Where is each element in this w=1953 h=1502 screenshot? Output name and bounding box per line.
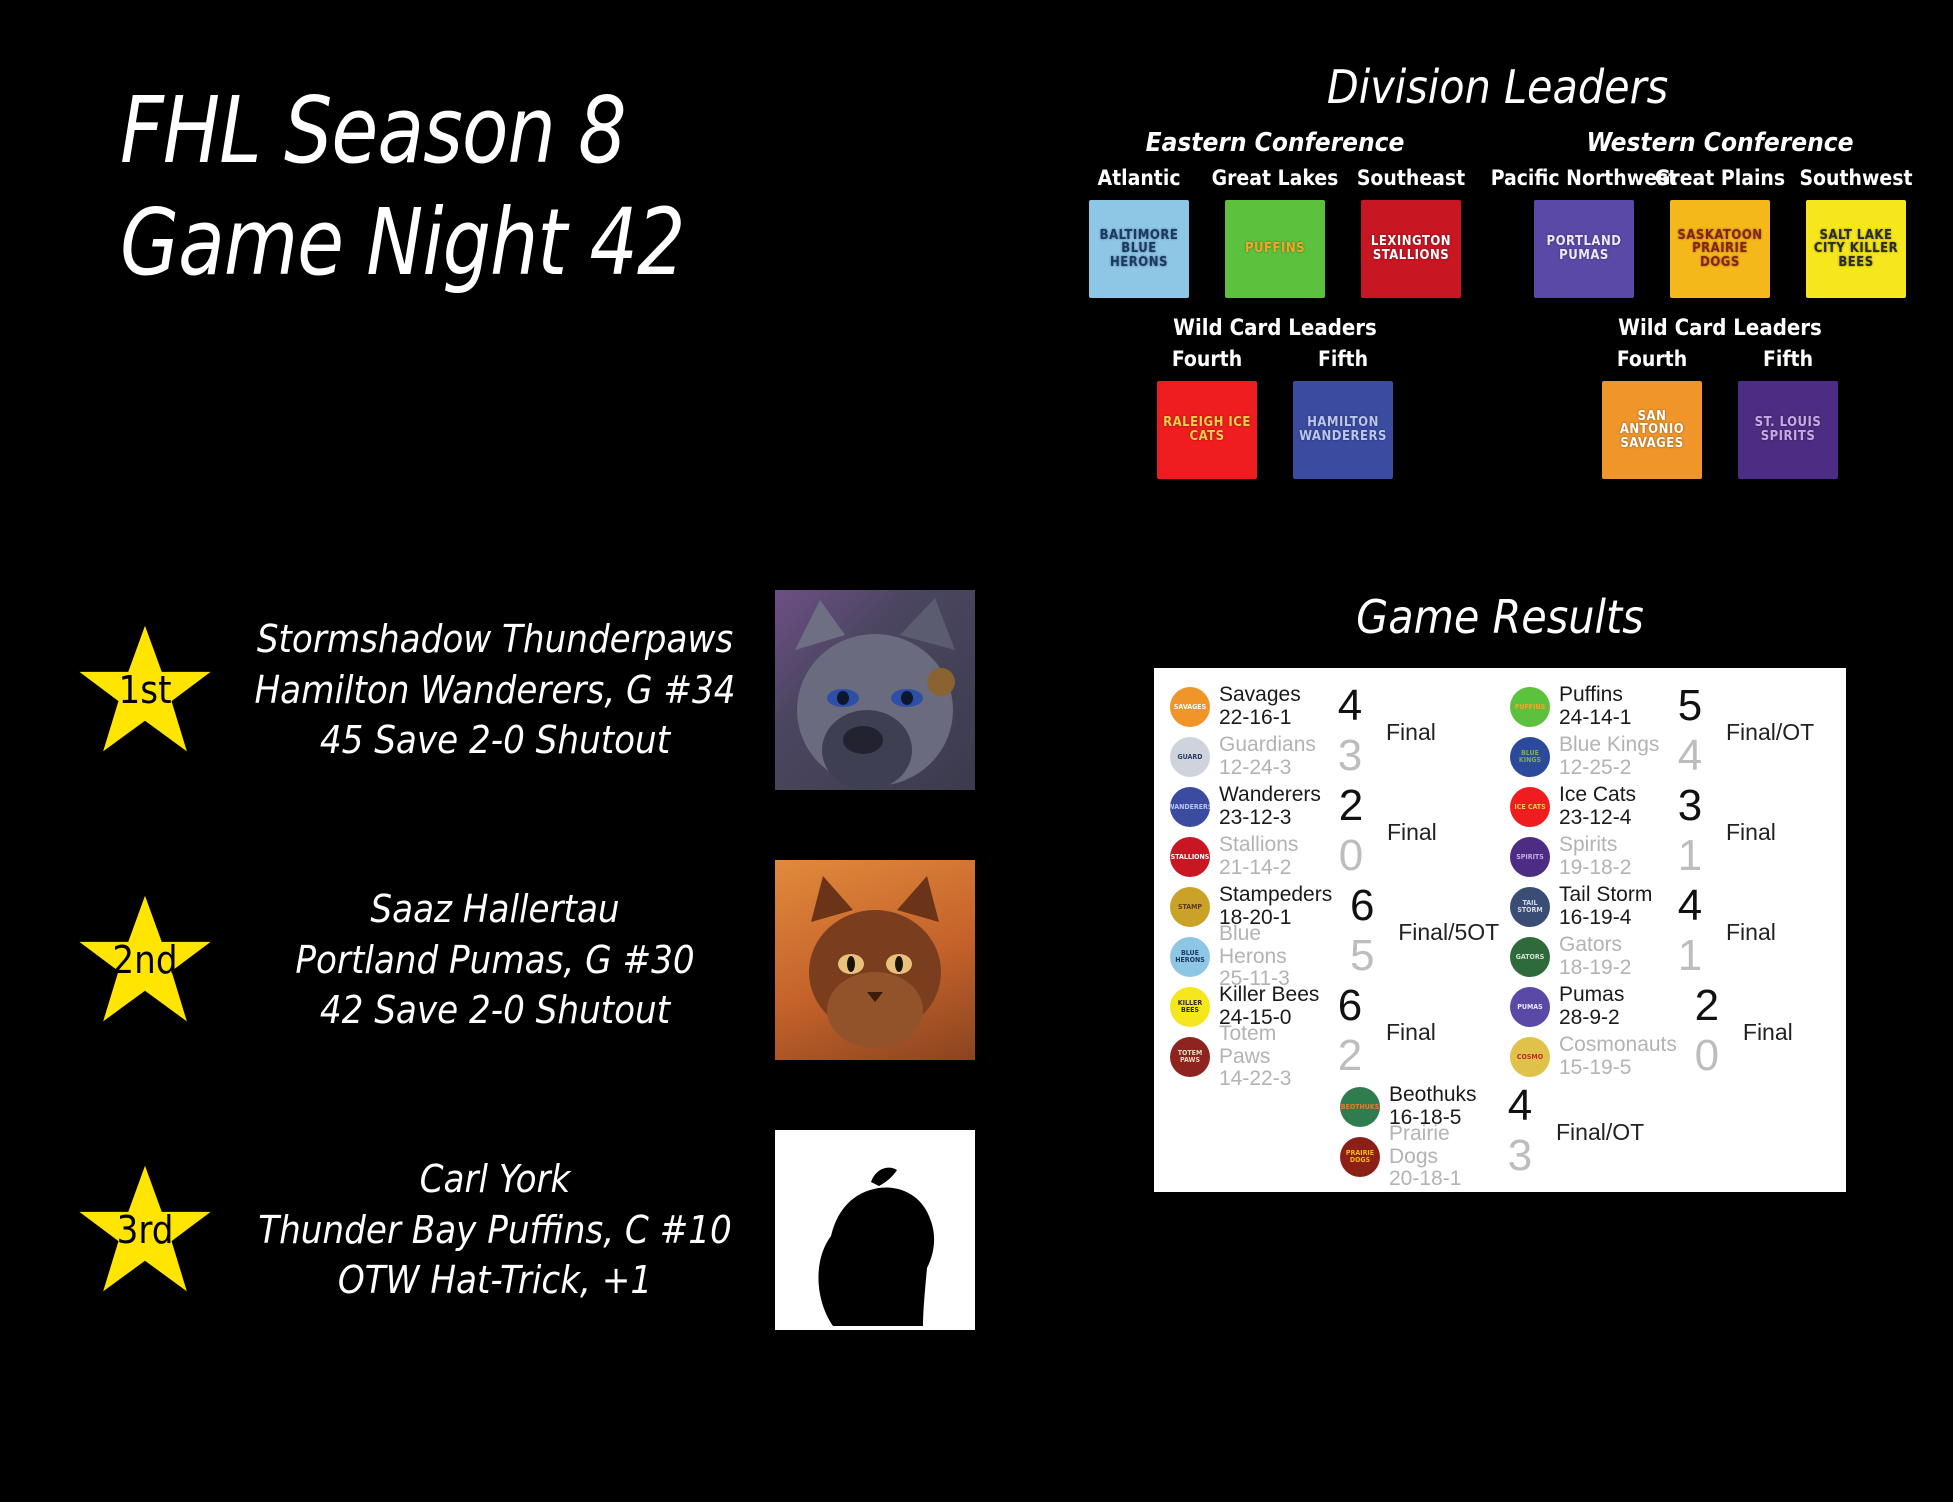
- team-logo-mini-label: SAVAGES: [1170, 687, 1210, 727]
- star-player-name: Stormshadow Thunderpaws: [229, 614, 761, 665]
- division-great-lakes[interactable]: Great Lakes Puffins: [1216, 166, 1334, 298]
- division-pacific-northwest[interactable]: Pacific Northwest Portland Pumas: [1525, 166, 1643, 298]
- team-logo-pumas[interactable]: Portland Pumas: [1534, 200, 1634, 298]
- division-southeast[interactable]: Southeast Lexington Stallions: [1352, 166, 1470, 298]
- page-title: FHL Season 8 Game Night 42: [120, 75, 685, 299]
- team-logo-stallions-icon: STALLIONS: [1168, 835, 1212, 879]
- star-player-name: Carl York: [229, 1154, 761, 1205]
- division-southwest[interactable]: Southwest Salt Lake City Killer Bees: [1797, 166, 1915, 298]
- team-name: Gators: [1559, 934, 1631, 957]
- score-winner: 2: [1321, 782, 1381, 832]
- game-row[interactable]: KILLER BEES Killer Bees 24-15-0 TOTEM PA…: [1160, 982, 1500, 1082]
- team-record: 19-18-2: [1559, 857, 1631, 880]
- star-rank-label: 3rd: [75, 1208, 215, 1252]
- team-name: Tail Storm: [1559, 884, 1652, 907]
- game-results-heading: Game Results: [1120, 590, 1880, 644]
- team-logo-cosmonauts-icon: COSMO: [1508, 1035, 1552, 1079]
- team-logo-label: Hamilton Wanderers: [1293, 414, 1393, 445]
- star-icon: 2nd: [75, 893, 215, 1027]
- game-results-section: Game Results SAVAGES Savages 22-16-1: [1120, 590, 1880, 1192]
- game-status: Final/OT: [1720, 719, 1840, 746]
- team-logo-label: Baltimore Blue Herons: [1089, 227, 1189, 272]
- team-record: 24-14-1: [1559, 707, 1631, 730]
- team-name: Cosmonauts: [1559, 1034, 1677, 1057]
- team-logo-mini-label: PUFFINS: [1510, 687, 1550, 727]
- game-row[interactable]: WANDERERS Wanderers 23-12-3 STALLIONS: [1160, 782, 1500, 882]
- conference-title: Western Conference: [1520, 128, 1920, 158]
- results-row-center: BEOTHUKS Beothuks 16-18-5 PRAIRIE DOGS: [1160, 1082, 1840, 1182]
- score-loser: 0: [1321, 832, 1381, 882]
- team-logo-savages[interactable]: San Antonio Savages: [1602, 381, 1702, 479]
- team-logo-mini-label: BLUE KINGS: [1510, 737, 1550, 777]
- team-logo-puffins-icon: PUFFINS: [1508, 685, 1552, 729]
- team-logo-stampeders-icon: STAMP: [1168, 885, 1212, 929]
- team-logo-blue-kings-icon: BLUE KINGS: [1508, 735, 1552, 779]
- three-stars-section: 1st Stormshadow Thunderpaws Hamilton Wan…: [75, 555, 975, 1365]
- star-team-position: Portland Pumas, G #30: [229, 935, 761, 986]
- division-label: Great Plains: [1655, 166, 1785, 190]
- team-logo-mini-label: PUMAS: [1510, 987, 1550, 1027]
- division-atlantic[interactable]: Atlantic Baltimore Blue Herons: [1080, 166, 1198, 298]
- team-name: Pumas: [1559, 984, 1624, 1007]
- game-status: Final/5OT: [1392, 919, 1512, 946]
- team-logo-mini-label: COSMO: [1510, 1037, 1550, 1077]
- star-team-position: Hamilton Wanderers, G #34: [229, 665, 761, 716]
- team-line-loser: GATORS Gators 18-19-2: [1508, 932, 1660, 982]
- team-record: 15-19-5: [1559, 1057, 1677, 1080]
- team-logo-killer-bees[interactable]: Salt Lake City Killer Bees: [1806, 200, 1906, 298]
- team-logo-mini-label: BLUE HERONS: [1170, 937, 1210, 977]
- wildcard-rank-label: Fourth: [1617, 347, 1687, 371]
- team-logo-puffins[interactable]: Puffins: [1225, 200, 1325, 298]
- team-line-winner: WANDERERS Wanderers 23-12-3: [1168, 782, 1321, 832]
- team-logo-mini-label: TOTEM PAWS: [1170, 1037, 1210, 1077]
- team-logo-totem-paws-icon: TOTEM PAWS: [1168, 1035, 1212, 1079]
- team-logo-mini-label: BEOTHUKS: [1340, 1087, 1380, 1127]
- game-row[interactable]: ICE CATS Ice Cats 23-12-4 SPIRITS: [1500, 782, 1840, 882]
- star-details: Stormshadow Thunderpaws Hamilton Wandere…: [215, 614, 775, 766]
- game-row[interactable]: PUMAS Pumas 28-9-2 COSMO: [1500, 982, 1840, 1082]
- team-name: Ice Cats: [1559, 784, 1636, 807]
- star-portrait-silhouette: [775, 1130, 975, 1330]
- team-record: 18-19-2: [1559, 957, 1631, 980]
- conference-title: Eastern Conference: [1075, 128, 1475, 158]
- score-loser: 2: [1320, 1032, 1380, 1082]
- division-leaders-section: Division Leaders Eastern Conference Atla…: [1075, 60, 1920, 479]
- star-icon: 1st: [75, 623, 215, 757]
- team-record: 12-25-2: [1559, 757, 1659, 780]
- team-logo-label: St. Louis Spirits: [1738, 414, 1838, 445]
- division-label: Great Lakes: [1212, 166, 1339, 190]
- score-winner: 6: [1320, 982, 1380, 1032]
- team-logo-gators-icon: GATORS: [1508, 935, 1552, 979]
- division-label: Southwest: [1799, 166, 1912, 190]
- team-line-winner: TAIL STORM Tail Storm 16-19-4: [1508, 882, 1660, 932]
- team-logo-mini-label: PRAIRIE DOGS: [1340, 1137, 1380, 1177]
- wildcard-title: Wild Card Leaders: [1520, 316, 1920, 341]
- game-results-card: SAVAGES Savages 22-16-1 GUARD: [1154, 668, 1846, 1192]
- team-line-winner: SAVAGES Savages 22-16-1: [1168, 682, 1320, 732]
- poster-root: FHL Season 8 Game Night 42 Division Lead…: [0, 0, 1953, 1502]
- score-winner: 2: [1677, 982, 1737, 1032]
- team-name: Prairie Dogs: [1389, 1123, 1490, 1168]
- team-line-loser: PRAIRIE DOGS Prairie Dogs 20-18-1: [1338, 1132, 1490, 1182]
- team-logo-mini-label: STALLIONS: [1170, 837, 1210, 877]
- wildcard-slot-fourth[interactable]: Fourth Raleigh Ice Cats: [1157, 347, 1257, 479]
- team-logo-pumas-icon: PUMAS: [1508, 985, 1552, 1029]
- score-loser: 1: [1660, 932, 1720, 982]
- team-name: Blue Herons: [1219, 923, 1332, 968]
- team-name: Stampeders: [1219, 884, 1332, 907]
- score-loser: 0: [1677, 1032, 1737, 1082]
- team-name: Guardians: [1219, 734, 1316, 757]
- game-row[interactable]: SAVAGES Savages 22-16-1 GUARD: [1160, 682, 1500, 782]
- team-logo-mini-label: TAIL STORM: [1510, 887, 1550, 927]
- results-column-right: PUFFINS Puffins 24-14-1 BLUE KINGS: [1500, 682, 1840, 1082]
- team-logo-mini-label: STAMP: [1170, 887, 1210, 927]
- division-great-plains[interactable]: Great Plains Saskatoon Prairie Dogs: [1661, 166, 1779, 298]
- team-logo-ice-cats-icon: ICE CATS: [1508, 785, 1552, 829]
- team-record: 21-14-2: [1219, 857, 1298, 880]
- team-record: 28-9-2: [1559, 1007, 1624, 1030]
- division-label: Atlantic: [1097, 166, 1180, 190]
- star-rank-label: 1st: [75, 668, 215, 712]
- score-winner: 4: [1660, 882, 1720, 932]
- wildcard-western: Wild Card Leaders Fourth San Antonio Sav…: [1520, 316, 1920, 479]
- team-record: 23-12-4: [1559, 807, 1636, 830]
- team-logo-wanderers-icon: WANDERERS: [1168, 785, 1212, 829]
- wildcard-slot-fifth[interactable]: Fifth Hamilton Wanderers: [1293, 347, 1393, 479]
- team-logo-mini-label: ICE CATS: [1510, 787, 1550, 827]
- wildcard-slot-fourth[interactable]: Fourth San Antonio Savages: [1602, 347, 1702, 479]
- division-label: Pacific Northwest: [1491, 166, 1678, 190]
- team-line-loser: TOTEM PAWS Totem Paws 14-22-3: [1168, 1032, 1320, 1082]
- star-entry-third: 3rd Carl York Thunder Bay Puffins, C #10…: [75, 1095, 975, 1365]
- score-loser: 5: [1332, 932, 1392, 982]
- star-entry-second: 2nd Saaz Hallertau Portland Pumas, G #30…: [75, 825, 975, 1095]
- team-logo-stallions[interactable]: Lexington Stallions: [1361, 200, 1461, 298]
- team-logo-label: San Antonio Savages: [1602, 408, 1702, 453]
- team-logo-label: Puffins: [1243, 240, 1307, 258]
- results-column-left: SAVAGES Savages 22-16-1 GUARD: [1160, 682, 1500, 1082]
- team-record: 16-19-4: [1559, 907, 1652, 930]
- team-name: Stallions: [1219, 834, 1298, 857]
- team-name: Puffins: [1559, 684, 1631, 707]
- team-line-loser: COSMO Cosmonauts 15-19-5: [1508, 1032, 1677, 1082]
- division-leaders-heading: Division Leaders: [1075, 60, 1920, 114]
- game-status: Final: [1737, 1019, 1857, 1046]
- team-logo-ice-cats[interactable]: Raleigh Ice Cats: [1157, 381, 1257, 479]
- star-team-position: Thunder Bay Puffins, C #10: [229, 1205, 761, 1256]
- game-status: Final: [1380, 1019, 1500, 1046]
- team-line-winner: PUFFINS Puffins 24-14-1: [1508, 682, 1660, 732]
- team-record: 14-22-3: [1219, 1068, 1320, 1091]
- team-line-winner: ICE CATS Ice Cats 23-12-4: [1508, 782, 1660, 832]
- division-label: Southeast: [1357, 166, 1465, 190]
- team-line-loser: BLUE KINGS Blue Kings 12-25-2: [1508, 732, 1660, 782]
- team-record: 22-16-1: [1219, 707, 1301, 730]
- title-line-1: FHL Season 8: [120, 75, 685, 187]
- team-logo-prairie-dogs[interactable]: Saskatoon Prairie Dogs: [1670, 200, 1770, 298]
- team-logo-mini-label: GUARD: [1170, 737, 1210, 777]
- score-winner: 5: [1660, 682, 1720, 732]
- team-logo-killer-bees-icon: KILLER BEES: [1168, 985, 1212, 1029]
- wildcard-eastern: Wild Card Leaders Fourth Raleigh Ice Cat…: [1075, 316, 1475, 479]
- game-status: Final: [1720, 919, 1840, 946]
- star-details: Carl York Thunder Bay Puffins, C #10 OTW…: [215, 1154, 775, 1306]
- team-name: Wanderers: [1219, 784, 1321, 807]
- game-status: Final: [1380, 719, 1500, 746]
- team-logo-spirits[interactable]: St. Louis Spirits: [1738, 381, 1838, 479]
- team-logo-label: Raleigh Ice Cats: [1157, 414, 1257, 445]
- team-name: Blue Kings: [1559, 734, 1659, 757]
- team-name: Spirits: [1559, 834, 1631, 857]
- team-logo-label: Salt Lake City Killer Bees: [1806, 227, 1906, 272]
- score-winner: 4: [1490, 1082, 1550, 1132]
- team-line-loser: STALLIONS Stallions 21-14-2: [1168, 832, 1321, 882]
- team-record: 12-24-3: [1219, 757, 1316, 780]
- team-logo-beothuks-icon: BEOTHUKS: [1338, 1085, 1382, 1129]
- star-stat-line: 45 Save 2-0 Shutout: [229, 715, 761, 766]
- team-logo-tail-storm-icon: TAIL STORM: [1508, 885, 1552, 929]
- star-entry-first: 1st Stormshadow Thunderpaws Hamilton Wan…: [75, 555, 975, 825]
- game-status: Final: [1720, 819, 1840, 846]
- game-row[interactable]: TAIL STORM Tail Storm 16-19-4 GATORS: [1500, 882, 1840, 982]
- star-icon: 3rd: [75, 1163, 215, 1297]
- team-logo-mini-label: SPIRITS: [1510, 837, 1550, 877]
- team-line-loser: GUARD Guardians 12-24-3: [1168, 732, 1320, 782]
- team-logo-wanderers[interactable]: Hamilton Wanderers: [1293, 381, 1393, 479]
- star-stat-line: 42 Save 2-0 Shutout: [229, 985, 761, 1036]
- team-line-loser: BLUE HERONS Blue Herons 25-11-3: [1168, 932, 1332, 982]
- star-player-name: Saaz Hallertau: [229, 884, 761, 935]
- wildcard-title: Wild Card Leaders: [1075, 316, 1475, 341]
- team-record: 20-18-1: [1389, 1168, 1490, 1191]
- team-name: Beothuks: [1389, 1084, 1477, 1107]
- team-logo-blue-herons-icon: BLUE HERONS: [1168, 935, 1212, 979]
- game-status: Final/OT: [1550, 1119, 1670, 1146]
- team-logo-mini-label: KILLER BEES: [1170, 987, 1210, 1027]
- conference-western: Western Conference Pacific Northwest Por…: [1520, 128, 1920, 479]
- team-logo-mini-label: WANDERERS: [1170, 787, 1210, 827]
- wildcard-rank-label: Fifth: [1318, 347, 1368, 371]
- team-logo-guardians-icon: GUARD: [1168, 735, 1212, 779]
- game-row[interactable]: BEOTHUKS Beothuks 16-18-5 PRAIRIE DOGS: [1330, 1082, 1670, 1182]
- star-portrait-wolf: [775, 590, 975, 790]
- score-winner: 6: [1332, 882, 1392, 932]
- team-logo-mini-label: GATORS: [1510, 937, 1550, 977]
- team-logo-label: Lexington Stallions: [1361, 233, 1461, 264]
- wildcard-rank-label: Fourth: [1172, 347, 1242, 371]
- score-winner: 4: [1320, 682, 1380, 732]
- star-portrait-cat: [775, 860, 975, 1060]
- team-name: Savages: [1219, 684, 1301, 707]
- team-logo-label: Portland Pumas: [1534, 233, 1634, 264]
- game-row[interactable]: PUFFINS Puffins 24-14-1 BLUE KINGS: [1500, 682, 1840, 782]
- wildcard-slot-fifth[interactable]: Fifth St. Louis Spirits: [1738, 347, 1838, 479]
- team-line-loser: SPIRITS Spirits 19-18-2: [1508, 832, 1660, 882]
- team-logo-label: Saskatoon Prairie Dogs: [1670, 227, 1770, 272]
- team-line-winner: PUMAS Pumas 28-9-2: [1508, 982, 1677, 1032]
- team-logo-spirits-icon: SPIRITS: [1508, 835, 1552, 879]
- score-loser: 3: [1320, 732, 1380, 782]
- wildcard-rank-label: Fifth: [1763, 347, 1813, 371]
- score-winner: 3: [1660, 782, 1720, 832]
- team-logo-savages-icon: SAVAGES: [1168, 685, 1212, 729]
- team-record: 23-12-3: [1219, 807, 1321, 830]
- team-name: Killer Bees: [1219, 984, 1319, 1007]
- game-row[interactable]: STAMP Stampeders 18-20-1 BLUE HERONS: [1160, 882, 1500, 982]
- score-loser: 3: [1490, 1132, 1550, 1182]
- conference-eastern: Eastern Conference Atlantic Baltimore Bl…: [1075, 128, 1475, 479]
- team-logo-blue-herons[interactable]: Baltimore Blue Herons: [1089, 200, 1189, 298]
- game-status: Final: [1381, 819, 1501, 846]
- title-line-2: Game Night 42: [120, 187, 685, 299]
- star-stat-line: OTW Hat-Trick, +1: [229, 1255, 761, 1306]
- team-logo-prairie-dogs-icon: PRAIRIE DOGS: [1338, 1135, 1382, 1179]
- score-loser: 4: [1660, 732, 1720, 782]
- team-name: Totem Paws: [1219, 1023, 1320, 1068]
- score-loser: 1: [1660, 832, 1720, 882]
- star-details: Saaz Hallertau Portland Pumas, G #30 42 …: [215, 884, 775, 1036]
- star-rank-label: 2nd: [75, 938, 215, 982]
